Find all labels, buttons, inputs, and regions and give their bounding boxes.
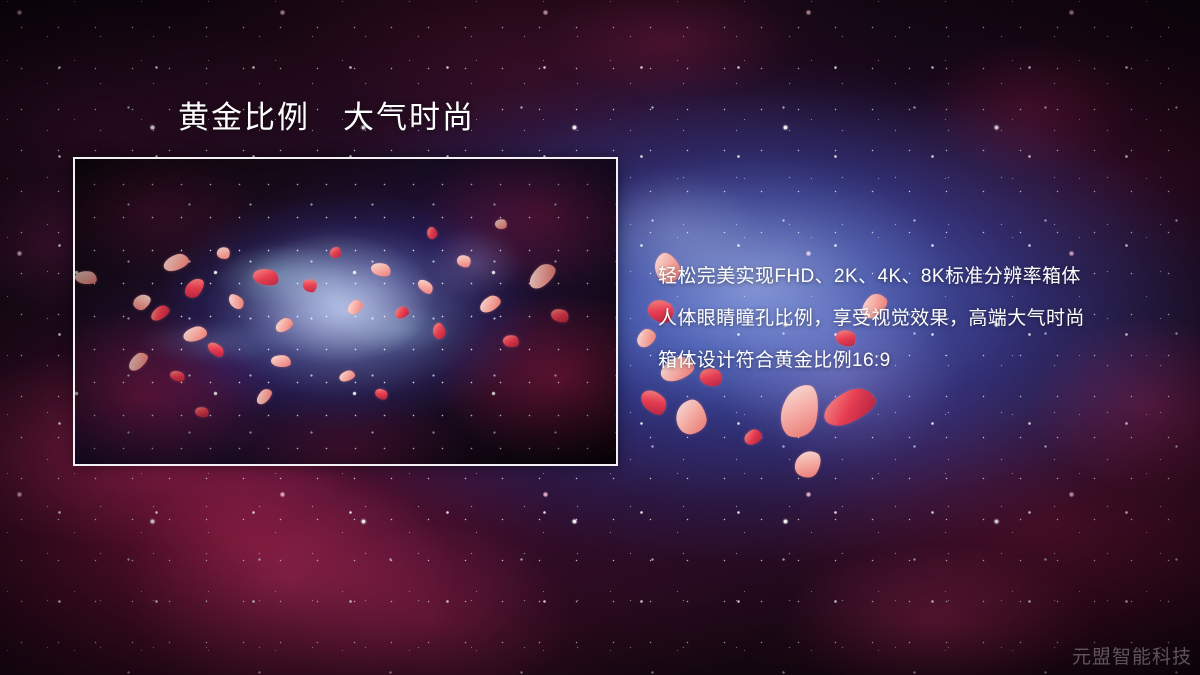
petal-shape xyxy=(338,369,356,383)
petal-shape xyxy=(633,326,659,351)
petal-shape xyxy=(74,270,98,286)
petal-shape xyxy=(394,305,411,320)
slide-canvas: 黄金比例 大气时尚 轻松完美实现FHD、2K、4K、8K标准分辨率箱体 人体眼睛… xyxy=(0,0,1200,675)
petal-shape xyxy=(425,225,439,240)
slide-title: 黄金比例 大气时尚 xyxy=(178,99,475,138)
petal-shape xyxy=(373,386,389,402)
description-text-block: 轻松完美实现FHD、2K、4K、8K标准分辨率箱体 人体眼睛瞳孔比例，享受视觉效… xyxy=(658,256,1178,382)
petal-shape xyxy=(148,303,171,323)
petal-shape xyxy=(226,291,247,311)
petal-shape xyxy=(431,322,447,340)
petal-shape xyxy=(131,291,154,313)
description-line: 箱体设计符合黄金比例16:9 xyxy=(658,340,1178,382)
petal-shape xyxy=(301,276,320,295)
petal-shape xyxy=(818,382,880,431)
petal-shape xyxy=(273,316,294,335)
petal-shape xyxy=(254,386,275,406)
petal-shape xyxy=(525,259,560,292)
petal-shape xyxy=(369,260,392,279)
company-watermark: 元盟智能科技 xyxy=(1072,642,1192,669)
petal-shape xyxy=(455,252,473,269)
petal-shape xyxy=(330,247,341,258)
petal-shape xyxy=(345,298,365,317)
nebula-photo-frame xyxy=(73,157,618,466)
petal-shape xyxy=(215,245,231,261)
petal-shape xyxy=(742,427,764,446)
description-line: 人体眼睛瞳孔比例，享受视觉效果，高端大气时尚 xyxy=(658,298,1178,340)
petal-shape xyxy=(673,397,709,436)
petal-shape xyxy=(549,306,571,325)
petal-shape xyxy=(194,405,210,418)
petal-shape xyxy=(494,218,508,230)
petal-shape xyxy=(270,354,291,369)
petal-shape xyxy=(637,385,671,419)
petal-shape xyxy=(502,333,520,348)
petal-shape xyxy=(161,251,190,273)
petal-shape xyxy=(125,349,150,373)
petal-shape xyxy=(477,293,503,316)
petal-shape xyxy=(182,275,207,302)
petal-shape xyxy=(182,325,208,344)
petal-shape xyxy=(169,368,187,383)
petal-shape xyxy=(791,446,826,482)
petal-shape xyxy=(777,381,823,441)
petal-shape xyxy=(206,339,227,359)
petal-shape xyxy=(251,266,280,288)
petal-shape xyxy=(416,277,436,297)
description-line: 轻松完美实现FHD、2K、4K、8K标准分辨率箱体 xyxy=(658,256,1178,298)
